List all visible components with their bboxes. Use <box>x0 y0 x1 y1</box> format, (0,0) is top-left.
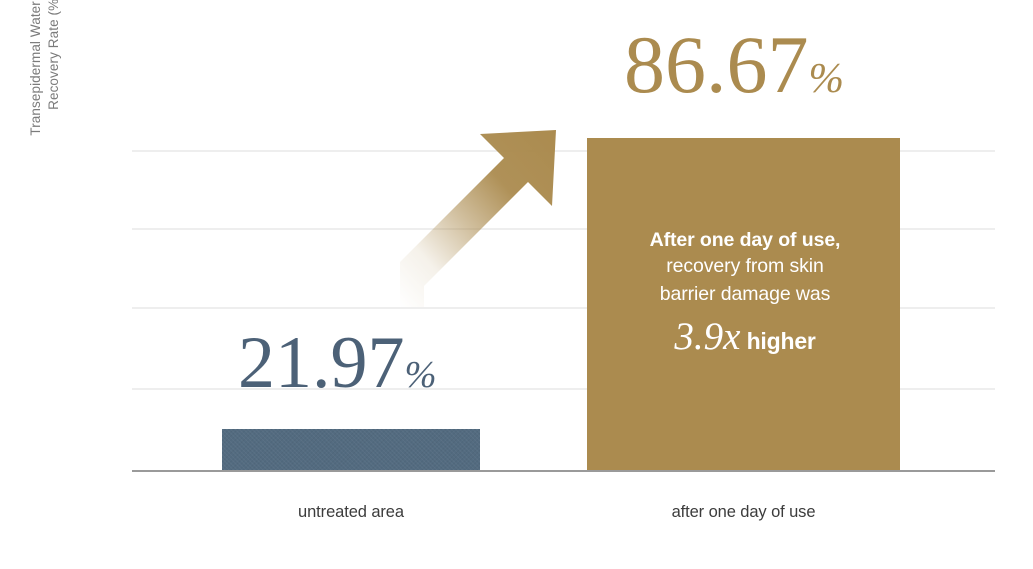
y-axis-title-line-1: Transepidermal Water Loss <box>27 0 45 136</box>
multiplier-value: 3.9x <box>674 315 740 358</box>
value-number-untreated: 21.97 <box>238 322 405 404</box>
callout-line-4: 3.9x higher <box>600 315 890 360</box>
percent-sign-untreated: % <box>405 354 437 396</box>
y-axis-title-line-2: Recovery Rate (%) <box>45 0 63 110</box>
bar-chart: Transepidermal Water Loss Recovery Rate … <box>0 0 1033 569</box>
callout-line-1: After one day of use, <box>600 228 890 253</box>
value-label-after-one-day: 86.67% <box>624 24 844 106</box>
value-number-treated: 86.67 <box>624 19 809 110</box>
higher-word: higher <box>740 328 815 354</box>
category-label-after-one-day: after one day of use <box>587 503 900 522</box>
y-axis-title: Transepidermal Water Loss Recovery Rate … <box>14 0 76 212</box>
percent-sign-treated: % <box>809 55 844 102</box>
callout-line-3: barrier damage was <box>600 281 890 309</box>
x-axis-line <box>132 470 995 472</box>
bar-untreated-area <box>222 429 480 472</box>
callout-line-2: recovery from skin <box>600 253 890 281</box>
value-label-untreated-area: 21.97% <box>238 326 436 400</box>
category-label-untreated-area: untreated area <box>222 503 480 522</box>
callout-text-block: After one day of use, recovery from skin… <box>600 228 890 360</box>
